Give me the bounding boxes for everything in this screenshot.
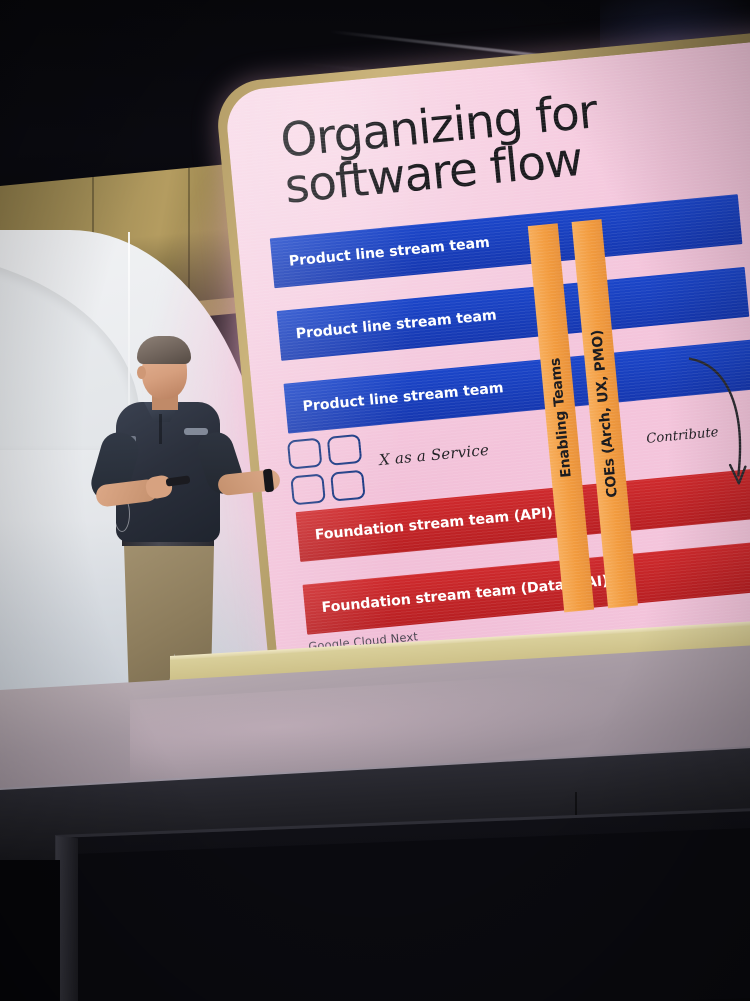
tile-icon-cell	[330, 470, 366, 502]
tiles-icon	[287, 434, 368, 507]
slide-title: Organizing for software flow	[279, 70, 750, 210]
enabling-teams-label: Enabling Teams	[547, 357, 574, 478]
speaker-ear	[137, 366, 146, 379]
conference-stage-photo: Organizing for software flow Product lin…	[0, 0, 750, 1001]
speaker-hair	[137, 336, 191, 364]
foreground-panel-inner	[75, 826, 750, 1001]
tile-icon-cell	[290, 473, 326, 505]
software-flow-diagram: Product line stream team Product line st…	[238, 185, 750, 640]
speaker-shirt-logo	[184, 428, 208, 435]
screen-surface: Organizing for software flow Product lin…	[224, 35, 750, 681]
speaker-placket	[159, 414, 162, 444]
tile-icon-cell	[287, 438, 323, 470]
presentation-screen: Organizing for software flow Product lin…	[214, 26, 750, 692]
tile-icon-cell	[327, 434, 363, 466]
x-as-a-service-label: X as a Service	[378, 441, 489, 469]
slide: Organizing for software flow Product lin…	[224, 35, 750, 681]
foreground-dark-fill	[0, 860, 60, 1001]
